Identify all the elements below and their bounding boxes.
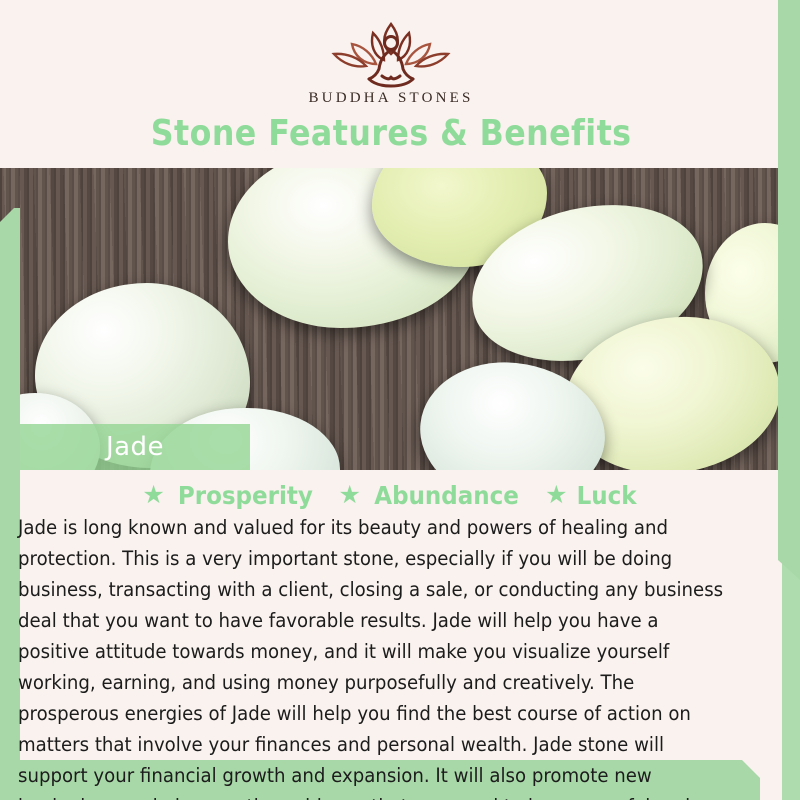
benefit-label: Abundance: [374, 481, 519, 510]
stone-name-banner: Jade: [20, 424, 250, 470]
benefit-item-prosperity: ★ Prosperity: [142, 481, 318, 510]
infographic-card: BUDDHA STONES Stone Features & Benefits …: [0, 0, 800, 800]
benefit-label: Luck: [577, 481, 637, 510]
page-title: Stone Features & Benefits: [151, 113, 632, 154]
brand-name: BUDDHA STONES: [308, 90, 473, 107]
star-icon: ★: [338, 483, 360, 508]
benefits-row: ★ Prosperity ★ Abundance ★ Luck: [0, 476, 782, 514]
star-icon: ★: [545, 483, 567, 508]
benefit-label: Prosperity: [178, 481, 313, 510]
benefit-item-luck: ★ Luck: [545, 481, 640, 510]
stone-description: Jade is long known and valued for its be…: [18, 512, 730, 800]
header: BUDDHA STONES Stone Features & Benefits: [0, 0, 782, 168]
benefit-item-abundance: ★ Abundance: [338, 481, 525, 510]
lotus-meditation-icon: [316, 16, 466, 88]
star-icon: ★: [142, 483, 164, 508]
brand-logo: BUDDHA STONES: [308, 16, 473, 107]
stone-name-label: Jade: [106, 432, 164, 462]
